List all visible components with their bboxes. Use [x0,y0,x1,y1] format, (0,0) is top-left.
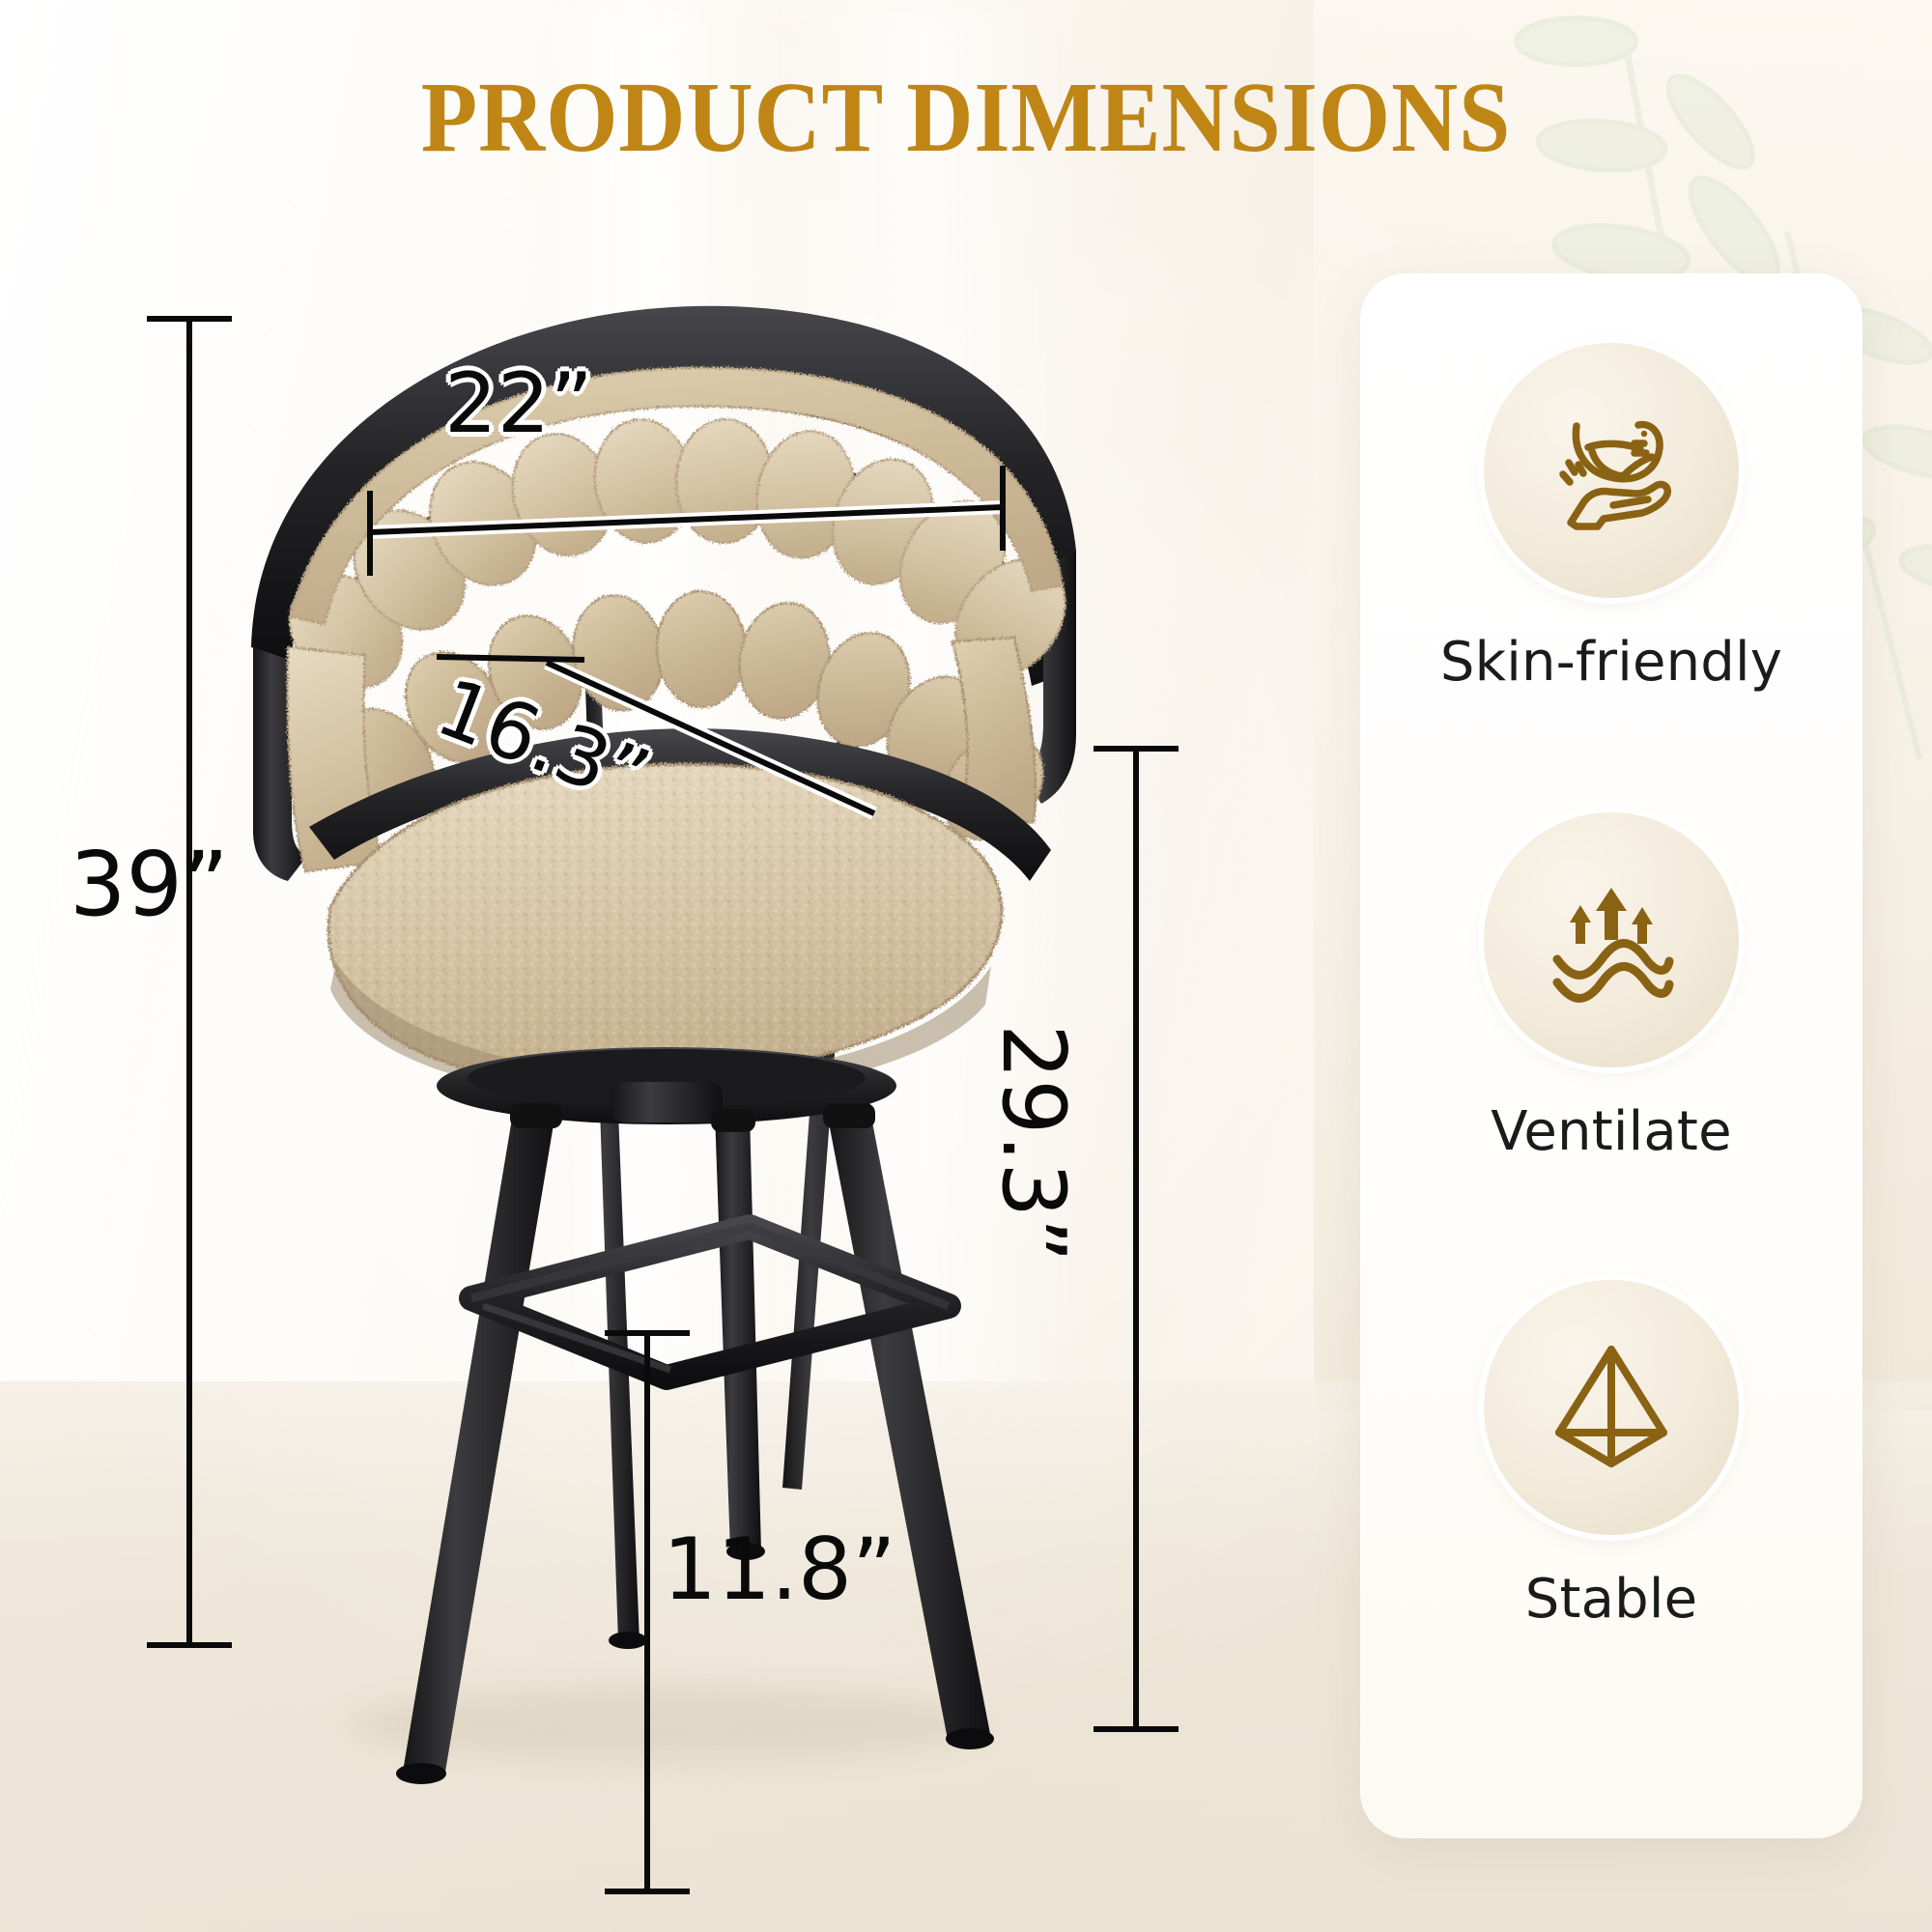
dimension-label-backrest-width: 22” [444,355,593,452]
feature-label: Ventilate [1360,1100,1862,1163]
feature-icon-badge [1484,812,1739,1067]
dimension-label-seat-height: 29.3” [982,1024,1084,1263]
feature-icon-badge [1484,343,1739,598]
feature-label: Stable [1360,1568,1862,1631]
hand-holding-fabric-icon [1534,393,1689,548]
infographic-canvas: PRODUCT DIMENSIONS [0,0,1932,1932]
feature-stable: Stable [1360,1280,1862,1631]
feature-ventilate: Ventilate [1360,812,1862,1163]
airflow-waves-icon [1534,863,1689,1017]
feature-icon-badge [1484,1280,1739,1535]
dimension-label-footrest-height: 11.8” [663,1520,896,1619]
feature-label: Skin-friendly [1360,631,1862,694]
wireframe-pyramid-icon [1534,1330,1689,1485]
dimension-label-overall-height: 39” [70,833,229,936]
feature-skin-friendly: Skin-friendly [1360,343,1862,694]
feature-panel: Skin-friendly Ventilate [1360,273,1862,1838]
